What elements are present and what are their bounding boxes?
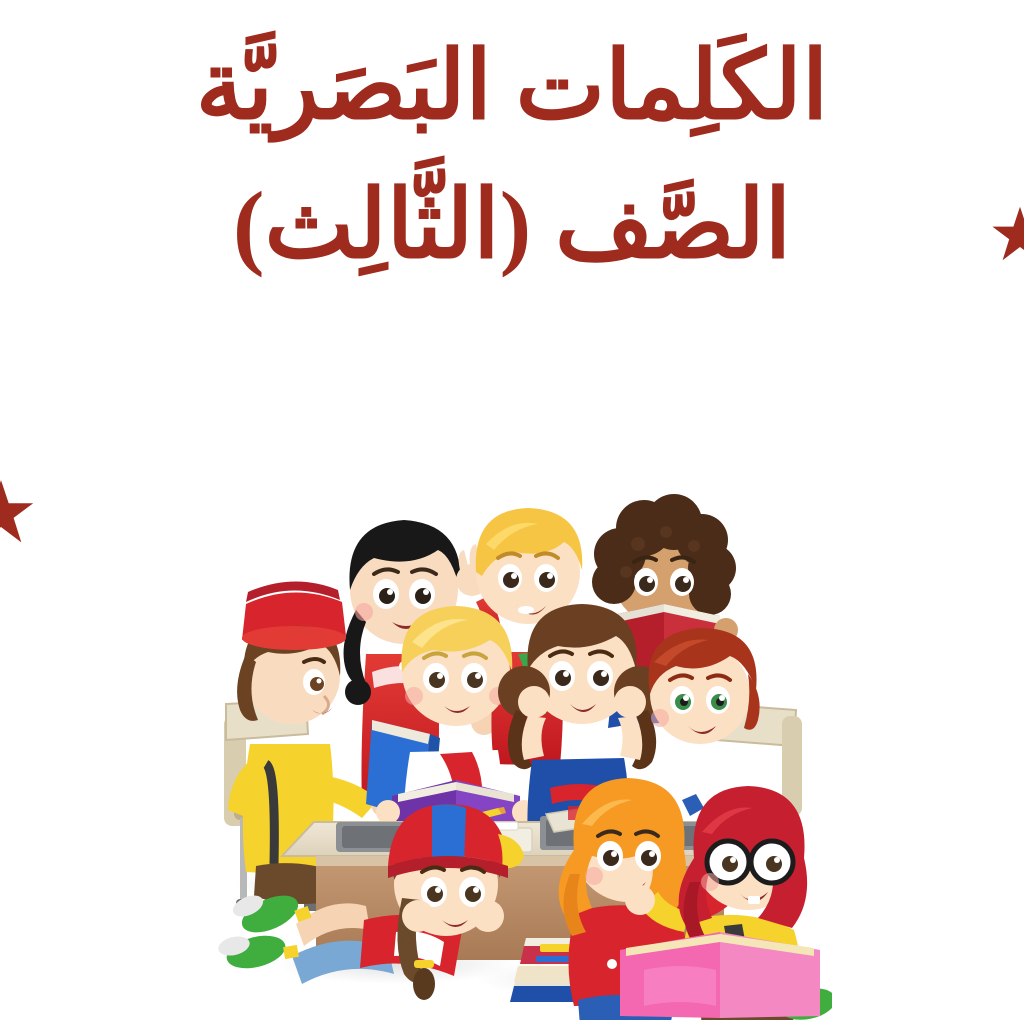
star-decoration-right (990, 205, 1024, 270)
children-studying-illustration: مجموعة من الأطفال يقرأون ويدرسون حول طاو… (196, 404, 832, 1020)
star-icon (992, 207, 1024, 260)
page-title-line-1: الكَلِمات البَصَريَّة (0, 24, 1024, 149)
star-decoration-left (0, 478, 36, 553)
prop-pink-book (620, 932, 820, 1018)
page-title-line-2: الصَّف (الثَّالِث) (0, 163, 1024, 288)
title-block: الكَلِمات البَصَريَّة الصَّف (الثَّالِث) (0, 24, 1024, 289)
star-icon (0, 480, 33, 542)
slide-canvas: الكَلِمات البَصَريَّة الصَّف (الثَّالِث)… (0, 0, 1024, 1024)
